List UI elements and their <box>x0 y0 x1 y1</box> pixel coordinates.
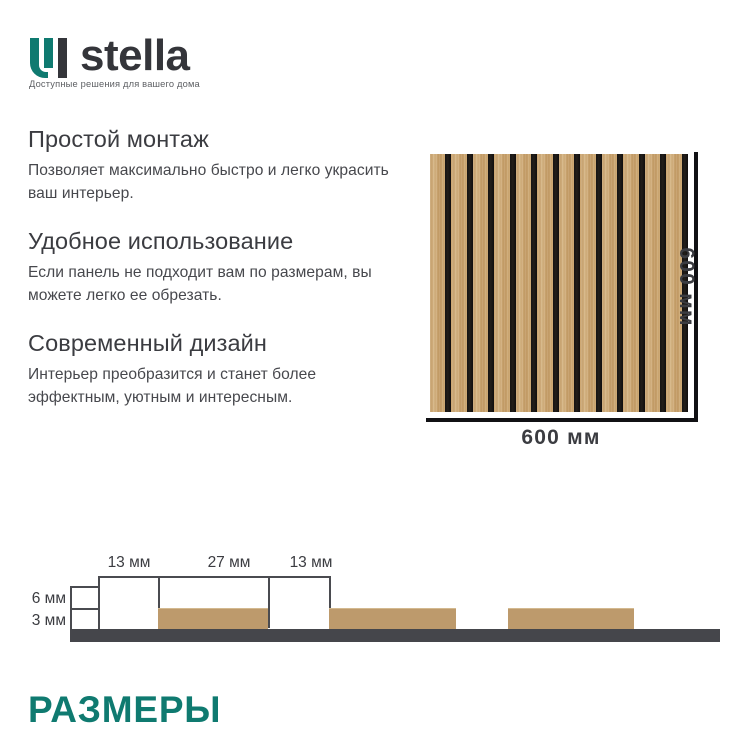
cs-tick <box>70 608 98 610</box>
panel-slat <box>645 154 660 412</box>
feature-title: Удобное использование <box>28 226 408 256</box>
feature-block: Простой монтаж Позволяет максимально быс… <box>28 124 408 205</box>
cs-slat-block <box>329 608 456 630</box>
section-heading: РАЗМЕРЫ <box>28 688 221 732</box>
cs-label-groove-2: 13 мм <box>280 554 342 572</box>
cs-label-slat: 27 мм <box>176 554 282 572</box>
brand-wordmark: stella <box>80 33 190 79</box>
cs-slat-block <box>508 608 634 630</box>
dimension-line-horizontal <box>426 418 698 422</box>
feature-title: Современный дизайн <box>28 328 408 358</box>
feature-title: Простой монтаж <box>28 124 408 154</box>
cs-label-groove-1: 13 мм <box>98 554 160 572</box>
brand-logo: stella Доступные решения для вашего дома <box>28 33 288 93</box>
cs-label-base-height: 3 мм <box>0 612 66 630</box>
cs-groove-outline-left <box>98 576 100 629</box>
panel-slat <box>473 154 488 412</box>
cs-tick <box>70 586 98 588</box>
panel-dimension-figure: 600 мм 600 мм <box>430 154 725 444</box>
panel-slat <box>516 154 531 412</box>
panel-slat <box>495 154 510 412</box>
slat-panel-image <box>430 154 688 412</box>
panel-slat <box>559 154 574 412</box>
cs-tick <box>268 576 270 628</box>
panel-slat <box>581 154 596 412</box>
panel-slat <box>624 154 639 412</box>
cs-base-board <box>70 629 720 642</box>
stella-bars-logo-icon <box>28 37 70 79</box>
feature-body: Позволяет максимально быстро и легко укр… <box>28 160 408 205</box>
panel-width-label: 600 мм <box>424 426 698 450</box>
panel-slat <box>430 154 445 412</box>
feature-block: Современный дизайн Интерьер преобразится… <box>28 328 408 409</box>
product-spec-infographic: stella Доступные решения для вашего дома… <box>0 0 750 750</box>
panel-slat <box>602 154 617 412</box>
feature-block: Удобное использование Если панель не под… <box>28 226 408 307</box>
panel-slat <box>538 154 553 412</box>
cs-slat-block <box>158 608 268 630</box>
panel-slat <box>452 154 467 412</box>
feature-body: Если панель не подходит вам по размерам,… <box>28 262 408 307</box>
cs-top-dimension-rule <box>98 576 330 578</box>
panel-height-label: 600 мм <box>674 212 698 362</box>
cs-label-slat-height: 6 мм <box>0 590 66 608</box>
feature-body: Интерьер преобразится и станет более эфф… <box>28 364 408 409</box>
cross-section-diagram: 13 мм 27 мм 13 мм 6 мм 3 мм <box>0 540 750 650</box>
brand-tagline: Доступные решения для вашего дома <box>29 79 200 89</box>
